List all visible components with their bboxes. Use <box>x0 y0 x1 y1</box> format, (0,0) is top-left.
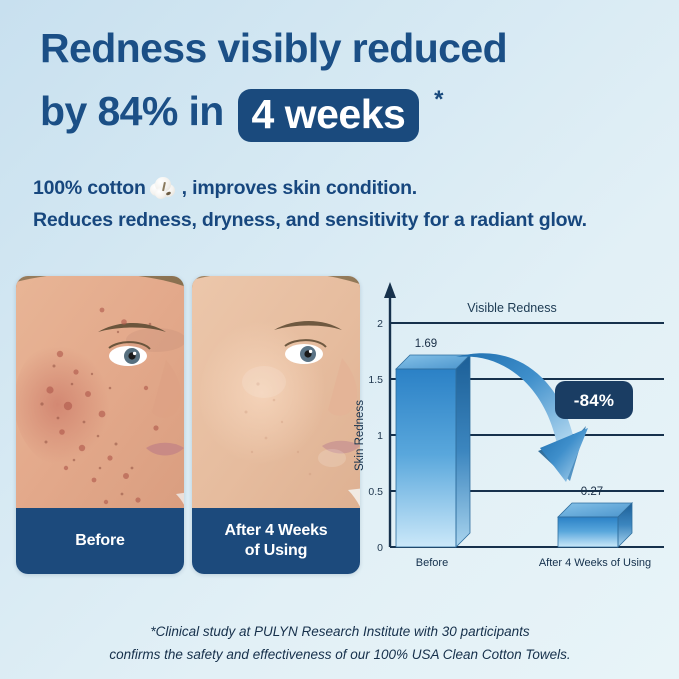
subtitle-line-1: 100% cotton, improves skin condition. <box>33 172 653 204</box>
y-tick-0: 0 <box>377 542 383 554</box>
chart-y-tick-labels: 0 0.5 1 1.5 2 <box>368 318 383 554</box>
y-tick-2: 1 <box>377 430 383 442</box>
y-tick-4: 2 <box>377 318 383 330</box>
footnote-asterisk-marker: * <box>434 86 443 113</box>
after-photo-caption: After 4 Weeks of Using <box>192 508 360 574</box>
subtitle-line-1-post: , improves skin condition. <box>182 177 417 199</box>
cotton-boll-icon <box>147 176 181 200</box>
page-title: Redness visibly reduced by 84% in 4 week… <box>40 22 650 142</box>
after-caption-line-1: After 4 Weeks <box>225 522 328 539</box>
promo-infographic: Redness visibly reduced by 84% in 4 week… <box>0 0 679 679</box>
after-caption-line-2: of Using <box>245 542 307 559</box>
headline-line-1: Redness visibly reduced <box>40 25 507 71</box>
subtitle-line-1-pre: 100% cotton <box>33 177 146 199</box>
before-photo-card: Before <box>16 276 184 574</box>
bar-value-before: 1.69 <box>415 338 437 350</box>
chart-y-axis-title: Skin Redness <box>354 400 366 471</box>
footnote-line-1: *Clinical study at PULYN Research Instit… <box>40 620 640 643</box>
chart-y-axis <box>384 282 396 547</box>
x-category-before: Before <box>416 557 448 569</box>
after-photo-image <box>192 276 360 508</box>
footnote-line-2: confirms the safety and effectiveness of… <box>40 643 640 666</box>
subtitle-line-2: Reduces redness, dryness, and sensitivit… <box>33 204 653 236</box>
headline-line-2-prefix: by 84% in <box>40 88 224 134</box>
after-photo-card: After 4 Weeks of Using <box>192 276 360 574</box>
before-caption-text: Before <box>75 531 124 551</box>
chart-bar-before <box>396 355 470 547</box>
before-photo-caption: Before <box>16 508 184 574</box>
reduction-badge: -84% <box>555 381 633 419</box>
redness-bar-chart: 0 0.5 1 1.5 2 Skin Redness Visible Redne… <box>352 276 672 576</box>
footnote: *Clinical study at PULYN Research Instit… <box>40 620 640 666</box>
reduction-badge-text: -84% <box>574 391 615 410</box>
headline-line-2: by 84% in 4 weeks * <box>40 74 650 142</box>
subtitle-block: 100% cotton, improves skin condition. Re… <box>33 172 653 236</box>
chart-bar-after <box>558 503 632 547</box>
bar-value-after: 0.27 <box>581 486 603 498</box>
before-photo-image <box>16 276 184 508</box>
y-tick-3: 1.5 <box>368 374 383 386</box>
headline-highlight-pill: 4 weeks <box>238 89 420 142</box>
y-tick-1: 0.5 <box>368 486 383 498</box>
chart-title: Visible Redness <box>467 301 556 315</box>
x-category-after: After 4 Weeks of Using <box>539 557 651 569</box>
